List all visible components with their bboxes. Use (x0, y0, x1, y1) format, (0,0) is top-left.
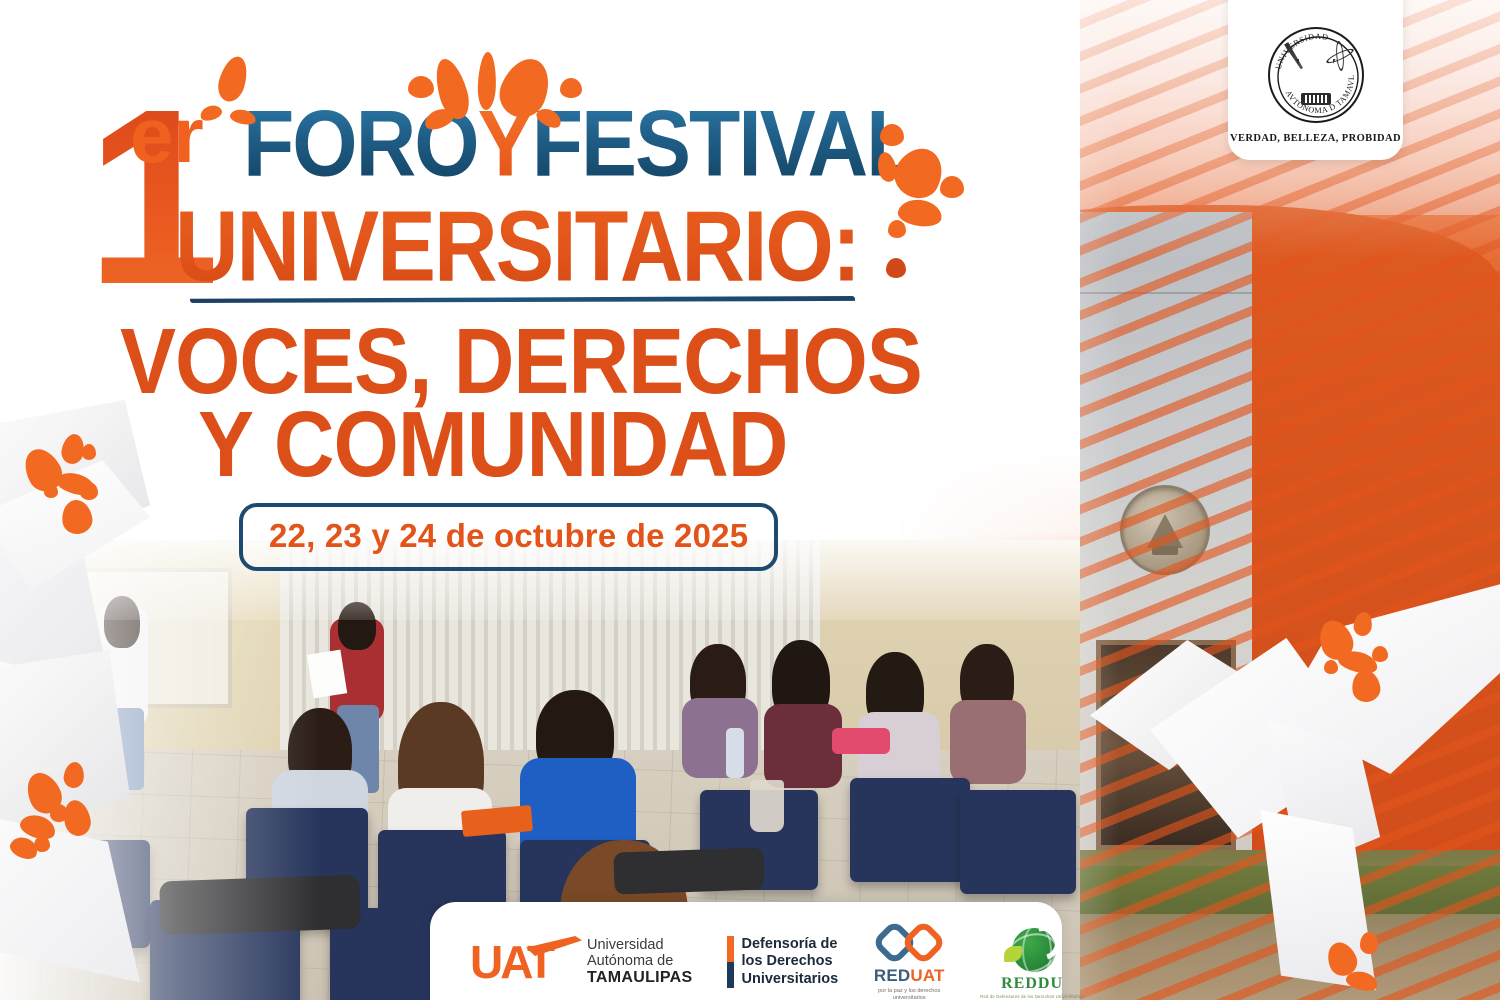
defensoria-logo-text: Defensoría de los Derechos Universitario… (742, 936, 839, 988)
defensoria-line-2: los Derechos (742, 953, 839, 970)
uat-mark-text: UAT (470, 936, 552, 988)
event-dates-badge: 22, 23 y 24 de octubre de 2025 (239, 503, 778, 571)
presenter-left-hair (104, 596, 140, 648)
reddu-tagline: Red de Defensores de los Derechos Univer… (980, 994, 1084, 999)
water-bottle (726, 728, 744, 778)
uat-line-2: Autónoma de (587, 953, 693, 969)
red-uat-logo: REDUAT por la paz y los derechos univers… (872, 922, 946, 1000)
subtitle-line-2: Y COMUNIDAD (198, 398, 787, 490)
university-seal-card: UNIVERSIDAD AVTONOMA D TAMAVLIPAS VERDAD… (1228, 0, 1403, 160)
defensoria-bar-icon (727, 936, 734, 988)
title-line-1: FOROYFESTIVAL (243, 96, 915, 190)
red-uat-tagline: por la paz y los derechos universitarios (872, 988, 946, 1000)
drink-cup (750, 780, 784, 832)
seal-ring-text: UNIVERSIDAD AVTONOMA D TAMAVLIPAS (1270, 29, 1366, 125)
sponsor-logo-bar: UAT Universidad Autónoma de TAMAULIPAS D… (430, 902, 1062, 1000)
desk-surface (159, 875, 361, 936)
presenter-center-hair (338, 602, 376, 650)
reddu-logo: REDDU Red de Defensores de los Derechos … (980, 926, 1084, 999)
desk-chair (960, 790, 1076, 894)
uat-wordmark-icon: UAT (470, 940, 578, 984)
red-uat-links-icon (878, 922, 940, 964)
event-dates-text: 22, 23 y 24 de octubre de 2025 (269, 517, 748, 554)
uat-logo: UAT Universidad Autónoma de TAMAULIPAS (470, 937, 693, 987)
student-body (764, 704, 842, 788)
ordinal-suffix: er (130, 96, 204, 174)
desk-chair (850, 778, 970, 882)
red-uat-wordmark: REDUAT (874, 966, 945, 986)
title-line-2: UNIVERSITARIO: (175, 196, 859, 296)
red-uat-tagline-2: universitarios (872, 995, 946, 1000)
title-y: Y (478, 90, 532, 195)
uat-logo-text: Universidad Autónoma de TAMAULIPAS (587, 937, 693, 987)
seal-book-icon (1301, 93, 1331, 105)
student-body (682, 698, 758, 778)
student-body (950, 700, 1026, 784)
red-uat-link-orange (900, 919, 947, 966)
desk-chair (30, 840, 150, 948)
reddu-wordmark: REDDU (1001, 975, 1063, 993)
uat-line-3: TAMAULIPAS (587, 969, 693, 987)
defensoria-line-1: Defensoría de (742, 936, 839, 953)
uat-line-1: Universidad (587, 937, 693, 953)
red-uat-word-1: RED (874, 966, 911, 985)
presenter-paper (307, 650, 347, 699)
event-poster: 1 er FOROYFESTIVAL UNIVERSITARIO: VOCES,… (0, 0, 1500, 1000)
red-uat-word-2: UAT (910, 966, 944, 985)
presenter-left-jeans (102, 708, 144, 790)
title-foro: FORO (243, 90, 478, 195)
reddu-globe-icon (1006, 926, 1058, 974)
seal-motto: VERDAD, BELLEZA, PROBIDAD (1230, 133, 1401, 144)
defensoria-line-3: Universitarios (742, 971, 839, 988)
defensoria-bar-navy (727, 962, 734, 988)
university-seal-icon: UNIVERSIDAD AVTONOMA D TAMAVLIPAS (1268, 27, 1364, 123)
headline-block: 1 er FOROYFESTIVAL UNIVERSITARIO: VOCES,… (0, 0, 1010, 600)
defensoria-bar-orange (727, 936, 734, 962)
title-festival: FESTIVAL (532, 90, 916, 195)
defensoria-logo: Defensoría de los Derechos Universitario… (727, 936, 839, 988)
pencil-case-pink (832, 728, 890, 754)
desk-surface (613, 847, 764, 894)
red-uat-tagline-1: por la paz y los derechos (872, 988, 946, 995)
